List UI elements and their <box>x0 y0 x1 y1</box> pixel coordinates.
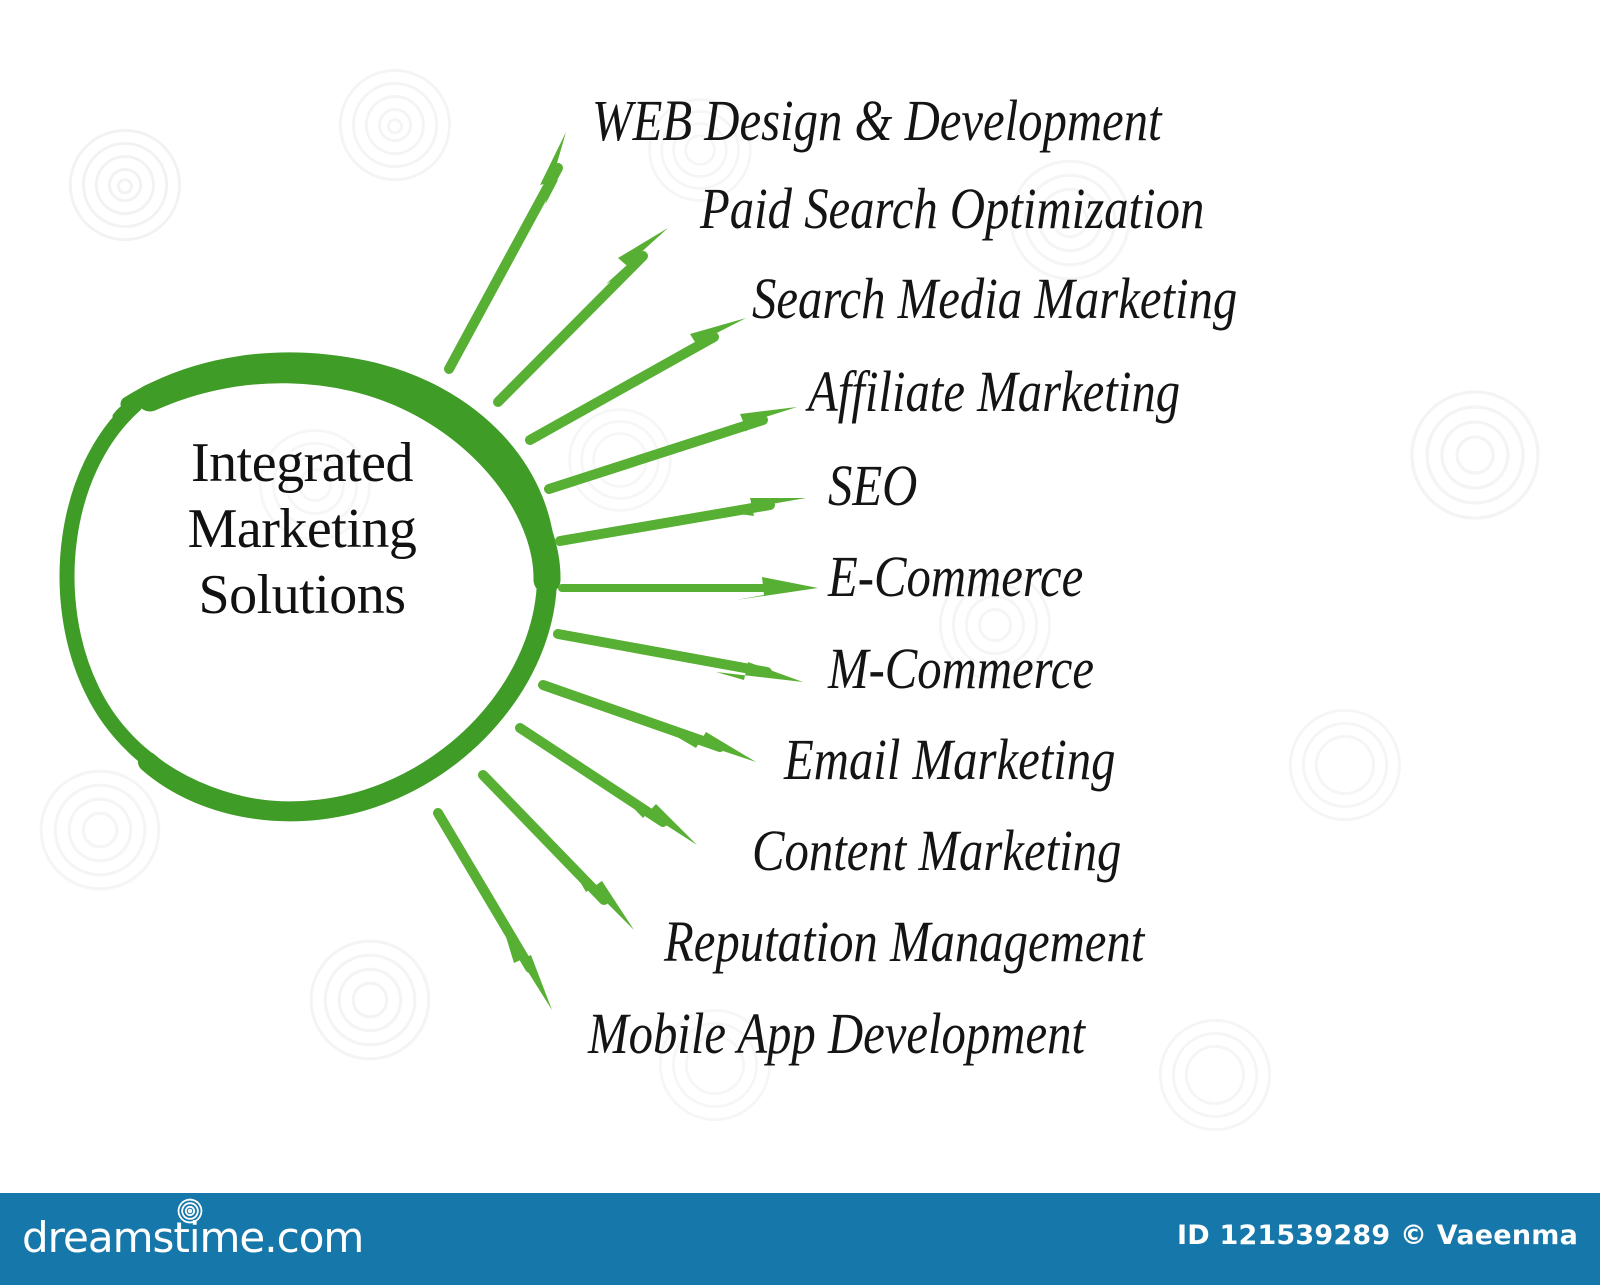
dreamstime-spiral-icon <box>177 1198 203 1229</box>
diagram-canvas: Integrated Marketing Solutions WEB Desig… <box>0 0 1600 1285</box>
spoke-label-group: WEB Design & Development Paid Search Opt… <box>0 0 1600 1285</box>
footer-bar: dreamstime.com ID 121539289 © Vaeenma <box>0 1193 1600 1285</box>
spoke-label-e-commerce: E-Commerce <box>828 548 1083 606</box>
spoke-label-search-media: Search Media Marketing <box>752 270 1237 328</box>
spoke-label-seo: SEO <box>828 457 917 515</box>
spoke-label-web-design: WEB Design & Development <box>592 92 1162 150</box>
spoke-label-m-commerce: M-Commerce <box>828 640 1094 698</box>
spoke-label-paid-search: Paid Search Optimization <box>700 180 1204 238</box>
spoke-label-content-marketing: Content Marketing <box>752 822 1121 880</box>
dreamstime-logo[interactable]: dreamstime.com <box>22 1210 363 1266</box>
spoke-label-affiliate-marketing: Affiliate Marketing <box>808 363 1180 421</box>
spoke-label-mobile-app-development: Mobile App Development <box>588 1005 1085 1063</box>
spoke-label-email-marketing: Email Marketing <box>784 731 1116 789</box>
image-credit: ID 121539289 © Vaeenma <box>1177 1222 1578 1249</box>
spoke-label-reputation-management: Reputation Management <box>664 913 1144 971</box>
